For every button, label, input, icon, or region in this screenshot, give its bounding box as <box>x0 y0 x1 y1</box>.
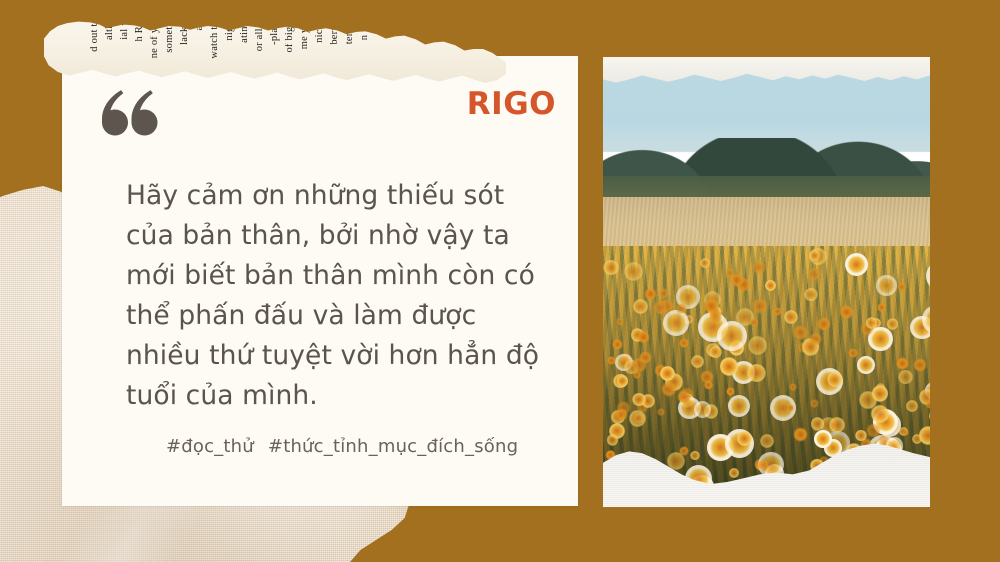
hashtag-doc-thu[interactable]: #đọc_thử <box>166 436 254 457</box>
rigo-logo: RIGO <box>467 86 556 122</box>
poster-canvas: RIGO Hãy cảm ơn những thiếu sót của bản … <box>0 0 1000 562</box>
double-quote-icon <box>98 88 164 142</box>
hashtag-row: #đọc_thử#thức_tỉnh_mục_đích_sống <box>166 436 532 457</box>
quote-card: RIGO Hãy cảm ơn những thiếu sót của bản … <box>62 56 578 506</box>
quote-line: của bản thân, bởi nhờ vậy ta <box>126 216 556 256</box>
quote-line: nhiều thứ tuyệt vời hơn hẳn độ <box>126 336 556 376</box>
quote-text: Hãy cảm ơn những thiếu sót của bản thân,… <box>126 176 556 416</box>
quote-line: thể phấn đấu và làm được <box>126 296 556 336</box>
hashtag-thuc-tinh-muc-dich-song[interactable]: #thức_tỉnh_mục_đích_sống <box>268 436 518 457</box>
quote-line: mới biết bản thân mình còn có <box>126 256 556 296</box>
quote-line: tuổi của mình. <box>126 376 556 416</box>
wildflower-field-photo <box>603 57 930 507</box>
quote-line: Hãy cảm ơn những thiếu sót <box>126 176 556 216</box>
